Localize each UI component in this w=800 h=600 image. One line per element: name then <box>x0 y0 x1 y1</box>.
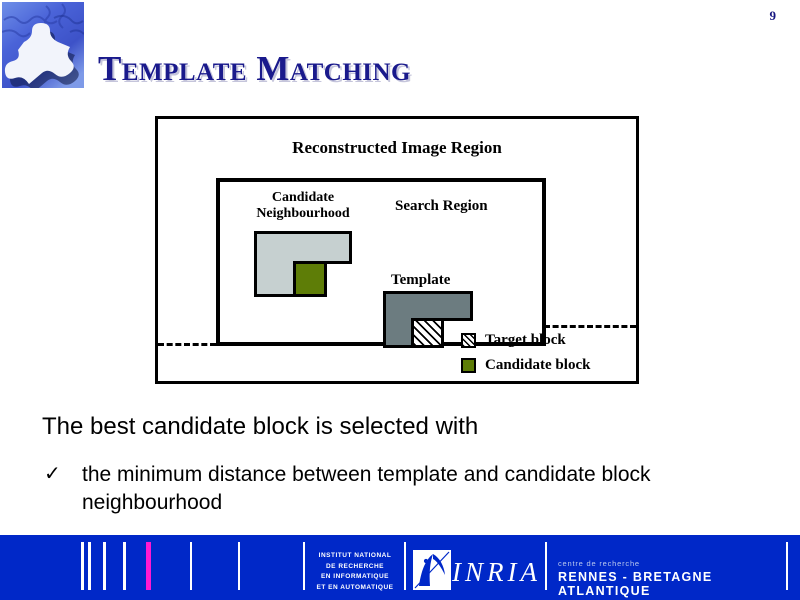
footer-bar: INSTITUT NATIONAL DE RECHERCHE EN INFORM… <box>0 535 800 600</box>
centre-subtitle: centre de recherche <box>558 559 640 568</box>
legend-item-target-block: Target block <box>461 329 590 352</box>
inria-bird-icon <box>413 550 451 590</box>
legend-label-target-block: Target block <box>485 332 566 349</box>
centre-name: RENNES - BRETAGNE ATLANTIQUE <box>558 570 800 598</box>
footer-divider-1 <box>190 542 192 590</box>
inria-institute-line-4: ET EN AUTOMATIQUE <box>310 583 400 594</box>
page-title: Template Matching <box>98 49 411 89</box>
candidate-neighbourhood-label: Candidate Neighbourhood <box>238 190 368 221</box>
bullet-list-item: ✓ the minimum distance between template … <box>44 461 764 516</box>
candidate-block-swatch-in-diagram <box>293 261 327 297</box>
checkmark-icon: ✓ <box>44 461 82 487</box>
footer-stripe-4 <box>123 542 126 590</box>
template-matching-diagram: Reconstructed Image Region Search Region… <box>155 116 639 384</box>
template-label: Template <box>391 272 450 289</box>
legend-label-candidate-block: Candidate block <box>485 357 590 374</box>
dashed-line-left <box>158 343 216 346</box>
candidate-neighbourhood-label-line1: Candidate <box>238 190 368 206</box>
page-number: 9 <box>770 8 777 24</box>
footer-divider-4 <box>404 542 406 590</box>
puzzle-piece-icon <box>2 2 84 88</box>
search-region-label: Search Region <box>395 198 488 215</box>
footer-divider-2 <box>238 542 240 590</box>
dashed-line-right <box>544 325 636 328</box>
footer-stripe-2 <box>88 542 91 590</box>
template-top-arm <box>383 291 473 321</box>
footer-divider-3 <box>303 542 305 590</box>
legend-item-candidate-block: Candidate block <box>461 354 590 377</box>
diagram-legend: Target block Candidate block <box>461 329 590 379</box>
inria-logo-icon <box>413 550 451 590</box>
puzzle-piece-logo <box>2 2 84 88</box>
target-block-swatch-icon <box>461 333 476 348</box>
candidate-block-swatch-icon <box>461 358 476 373</box>
inria-wordmark: INRIA <box>452 557 541 588</box>
lead-text: The best candidate block is selected wit… <box>42 413 478 441</box>
inria-institute-text: INSTITUT NATIONAL DE RECHERCHE EN INFORM… <box>310 551 400 593</box>
footer-stripe-1 <box>81 542 84 590</box>
target-block-in-diagram <box>411 318 444 348</box>
footer-divider-5 <box>545 542 547 590</box>
inria-institute-line-3: EN INFORMATIQUE <box>310 572 400 583</box>
inria-institute-line-1: INSTITUT NATIONAL <box>310 551 400 562</box>
footer-stripe-accent <box>146 542 151 590</box>
reconstructed-image-region-label: Reconstructed Image Region <box>155 138 639 158</box>
candidate-neighbourhood-label-line2: Neighbourhood <box>238 206 368 222</box>
bullet-text: the minimum distance between template an… <box>82 461 742 516</box>
inria-institute-line-2: DE RECHERCHE <box>310 562 400 573</box>
template-left-arm <box>383 318 414 348</box>
candidate-neighbourhood-top-arm <box>254 231 352 264</box>
footer-stripe-3 <box>103 542 106 590</box>
